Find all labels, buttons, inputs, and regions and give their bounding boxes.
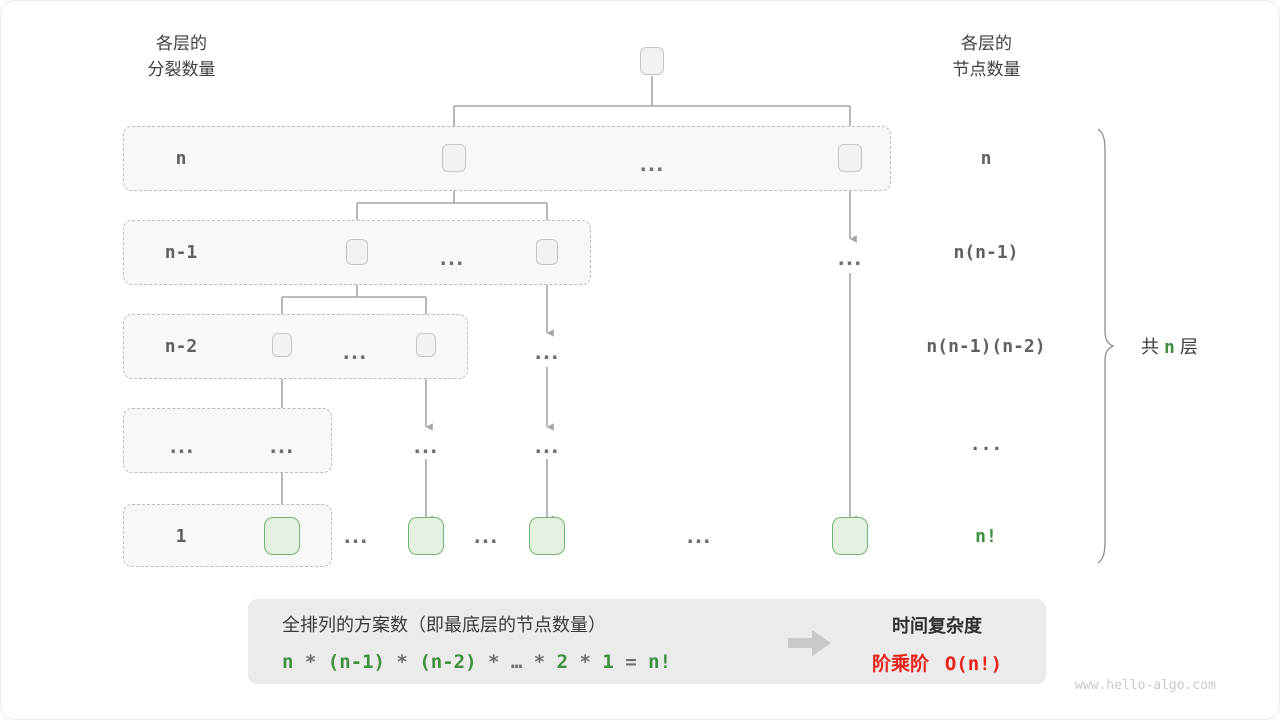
tree-node-l3-a	[272, 333, 292, 357]
level-box-1	[123, 126, 891, 191]
total-levels-label: 共 n 层	[1141, 333, 1198, 359]
formula-part-3: *	[385, 651, 419, 673]
leaf-ellipsis-2: ...	[456, 528, 516, 547]
formula-part-0: n	[282, 651, 293, 673]
level-node-count-1: n	[896, 148, 1076, 169]
complexity-title: 时间复杂度	[839, 612, 1035, 638]
right-header-line2: 节点数量	[914, 57, 1059, 83]
level-2-trailing-ellipsis: ...	[820, 250, 880, 269]
level-split-count-4: ...	[152, 438, 212, 457]
left-header-line2: 分裂数量	[109, 57, 254, 83]
formula-part-9: =	[614, 651, 648, 673]
total-levels-suffix: 层	[1180, 337, 1198, 357]
level-4-node-ellipsis-b: ...	[396, 438, 456, 457]
level-node-count-5: n!	[896, 526, 1076, 547]
total-levels-value: n	[1164, 337, 1175, 358]
level-split-count-2: n-1	[131, 242, 231, 263]
right-column-header: 各层的 节点数量	[914, 31, 1059, 83]
complexity-label: 阶乘阶	[872, 654, 929, 675]
right-header-line1: 各层的	[914, 31, 1059, 57]
level-1-ellipsis: ...	[622, 156, 682, 175]
level-split-count-5: 1	[131, 526, 231, 547]
level-3-branch-ellipsis: ...	[517, 344, 577, 363]
level-split-count-3: n-2	[131, 336, 231, 357]
right-arrow-icon	[787, 628, 833, 658]
level-node-count-2: n(n-1)	[896, 242, 1076, 263]
summary-text: 全排列的方案数（即最底层的节点数量）	[282, 611, 606, 637]
complexity-value: 阶乘阶 O(n!)	[839, 649, 1035, 676]
level-4-node-ellipsis-a: ...	[252, 438, 312, 457]
level-3-ellipsis: ...	[325, 344, 385, 363]
left-column-header: 各层的 分裂数量	[109, 31, 254, 83]
tree-node-l2-b	[536, 239, 558, 265]
tree-node-root	[640, 47, 664, 75]
levels-brace	[1098, 129, 1113, 563]
tree-node-l3-b	[416, 333, 436, 357]
formula-part-8: 1	[602, 651, 613, 673]
tree-node-leaf-1	[264, 517, 300, 555]
formula-part-10: n!	[648, 651, 671, 673]
leaf-ellipsis-1: ...	[326, 528, 386, 547]
watermark: www.hello-algo.com	[1075, 678, 1216, 693]
level-2-ellipsis: ...	[422, 250, 482, 269]
left-header-line1: 各层的	[109, 31, 254, 57]
total-levels-prefix: 共	[1141, 337, 1159, 357]
tree-node-leaf-4	[832, 517, 868, 555]
tree-node-l1-b	[838, 144, 862, 172]
complexity-bigo: O(n!)	[945, 653, 1002, 675]
formula-part-6: 2	[557, 651, 568, 673]
formula-part-4: (n-2)	[419, 651, 476, 673]
formula-part-5: * … *	[477, 651, 557, 673]
formula-part-2: (n-1)	[328, 651, 385, 673]
diagram-canvas: 各层的 分裂数量 各层的 节点数量 n ... n n-1 ... ... n(…	[0, 0, 1280, 720]
formula-part-1: *	[293, 651, 327, 673]
tree-node-leaf-2	[408, 517, 444, 555]
formula-part-7: *	[568, 651, 602, 673]
leaf-ellipsis-3: ...	[669, 528, 729, 547]
tree-node-l1-a	[442, 144, 466, 172]
level-split-count-1: n	[131, 148, 231, 169]
level-node-count-3: n(n-1)(n-2)	[896, 336, 1076, 357]
level-4-node-ellipsis-c: ...	[517, 438, 577, 457]
tree-node-l2-a	[346, 239, 368, 265]
permutation-formula: n * (n-1) * (n-2) * … * 2 * 1 = n!	[282, 651, 671, 673]
tree-node-leaf-3	[529, 517, 565, 555]
level-node-count-4: ...	[896, 434, 1076, 455]
